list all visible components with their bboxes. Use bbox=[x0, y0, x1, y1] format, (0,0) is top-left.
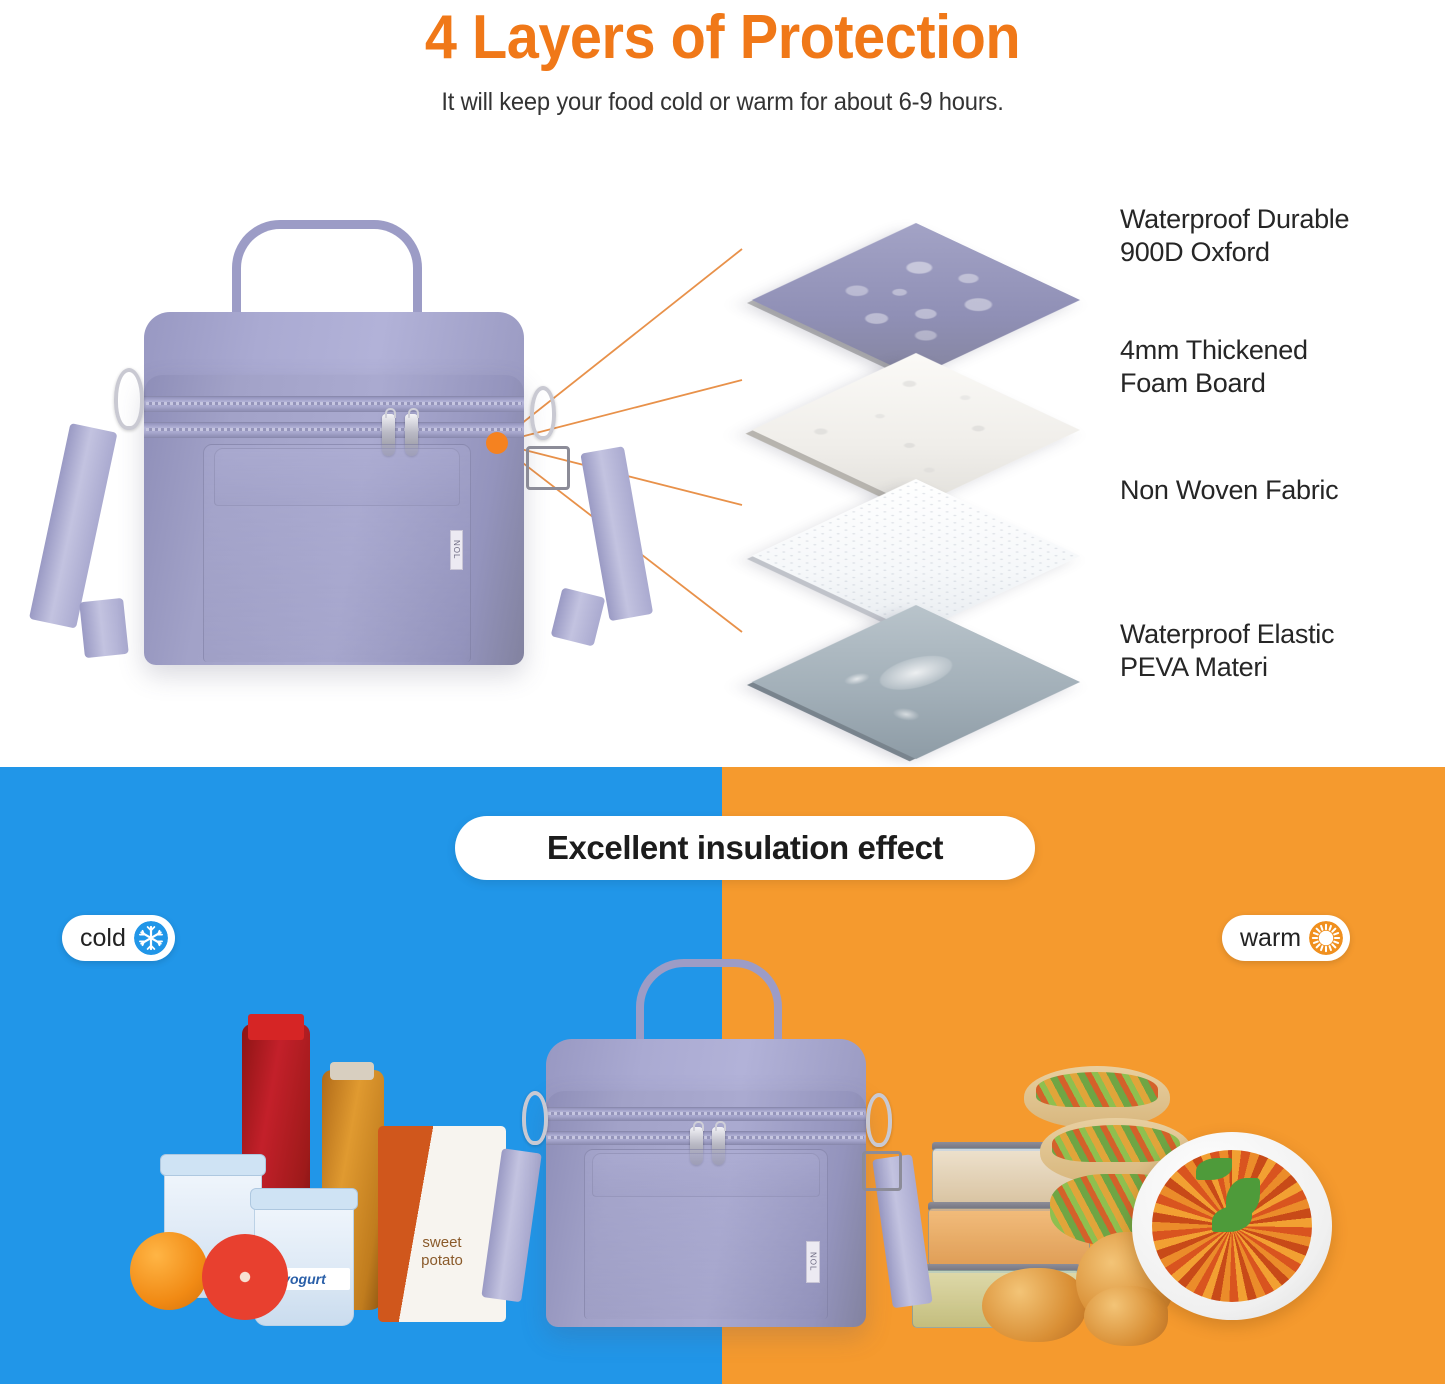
layer-label-foam-line2: Foam Board bbox=[1120, 367, 1308, 400]
bag-brand-tag: NOL bbox=[450, 530, 463, 570]
page-title: 4 Layers of Protection bbox=[51, 2, 1395, 73]
bag-carabiner-left bbox=[114, 368, 144, 430]
layer-label-peva: Waterproof Elastic PEVA Materi bbox=[1120, 618, 1334, 684]
orange-fruit bbox=[130, 1232, 208, 1310]
bag-front-pocket-seam bbox=[203, 444, 471, 662]
lunch-bag-insulation-photo: NOL bbox=[500, 955, 920, 1375]
fried-chicken-left bbox=[982, 1268, 1086, 1342]
warm-badge: warm bbox=[1222, 915, 1350, 961]
lunch-bag-product-photo: NOL bbox=[60, 200, 620, 680]
layer-label-peva-line1: Waterproof Elastic bbox=[1120, 618, 1334, 651]
layer-label-foam: 4mm Thickened Foam Board bbox=[1120, 334, 1308, 400]
sun-icon bbox=[1309, 921, 1343, 955]
insulation-banner: Excellent insulation effect bbox=[455, 816, 1035, 880]
pita-filling-bottom bbox=[1052, 1125, 1180, 1162]
warm-badge-label: warm bbox=[1240, 924, 1301, 953]
chip-bag-text-line1: sweet bbox=[378, 1234, 506, 1251]
bag-zipper-teeth-lower bbox=[146, 428, 522, 431]
layer-label-oxford: Waterproof Durable 900D Oxford bbox=[1120, 203, 1349, 269]
cold-food-cluster: yogurt sweet potato bbox=[130, 1010, 550, 1380]
insulation-bag-brand-tag: NOL bbox=[806, 1241, 820, 1283]
pita-filling-top bbox=[1036, 1072, 1159, 1107]
insulation-carabiner-right bbox=[866, 1093, 892, 1147]
grapefruit-half bbox=[202, 1234, 288, 1320]
layer-label-nonwoven-line1: Non Woven Fabric bbox=[1120, 474, 1338, 507]
shoulder-strap-right-lower bbox=[551, 587, 606, 646]
shoulder-strap-left bbox=[29, 423, 118, 629]
layer-label-oxford-line1: Waterproof Durable bbox=[1120, 203, 1349, 236]
insulation-zipper-teeth-upper bbox=[548, 1112, 864, 1115]
warm-food-cluster bbox=[890, 1060, 1330, 1380]
layer-label-nonwoven: Non Woven Fabric bbox=[1120, 474, 1338, 507]
product-infographic: 4 Layers of Protection It will keep your… bbox=[0, 0, 1445, 1384]
insulation-zipper-teeth-lower bbox=[548, 1136, 864, 1139]
bag-d-ring-right bbox=[526, 446, 570, 490]
layer-label-oxford-line2: 900D Oxford bbox=[1120, 236, 1349, 269]
snowflake-icon bbox=[134, 921, 168, 955]
insulation-d-ring-right bbox=[862, 1151, 902, 1191]
callout-dot bbox=[486, 432, 508, 454]
layer-label-foam-line1: 4mm Thickened bbox=[1120, 334, 1308, 367]
layers-section: 4 Layers of Protection It will keep your… bbox=[0, 0, 1445, 767]
insulation-banner-text: Excellent insulation effect bbox=[547, 829, 943, 867]
page-subtitle: It will keep your food cold or warm for … bbox=[36, 88, 1409, 117]
shoulder-strap-left-lower bbox=[79, 598, 129, 658]
fried-chicken-small bbox=[1084, 1286, 1168, 1346]
yogurt-cup-front-lid bbox=[250, 1188, 358, 1210]
layer-label-peva-line2: PEVA Materi bbox=[1120, 651, 1334, 684]
cold-badge: cold bbox=[62, 915, 175, 961]
bag-zipper-teeth-upper bbox=[146, 402, 522, 405]
bag-handle bbox=[232, 220, 422, 320]
peva-material-swatch bbox=[800, 566, 1032, 798]
yogurt-cup-back-lid bbox=[160, 1154, 266, 1176]
beer-bottle-cap bbox=[330, 1062, 374, 1080]
insulation-carabiner-left bbox=[522, 1091, 548, 1145]
cola-bottle-cap bbox=[248, 1014, 304, 1040]
bag-carabiner-right bbox=[530, 386, 556, 440]
cold-badge-label: cold bbox=[80, 924, 126, 953]
insulation-bag-pocket-seam bbox=[584, 1149, 828, 1319]
insulation-bag-handle bbox=[636, 959, 782, 1045]
